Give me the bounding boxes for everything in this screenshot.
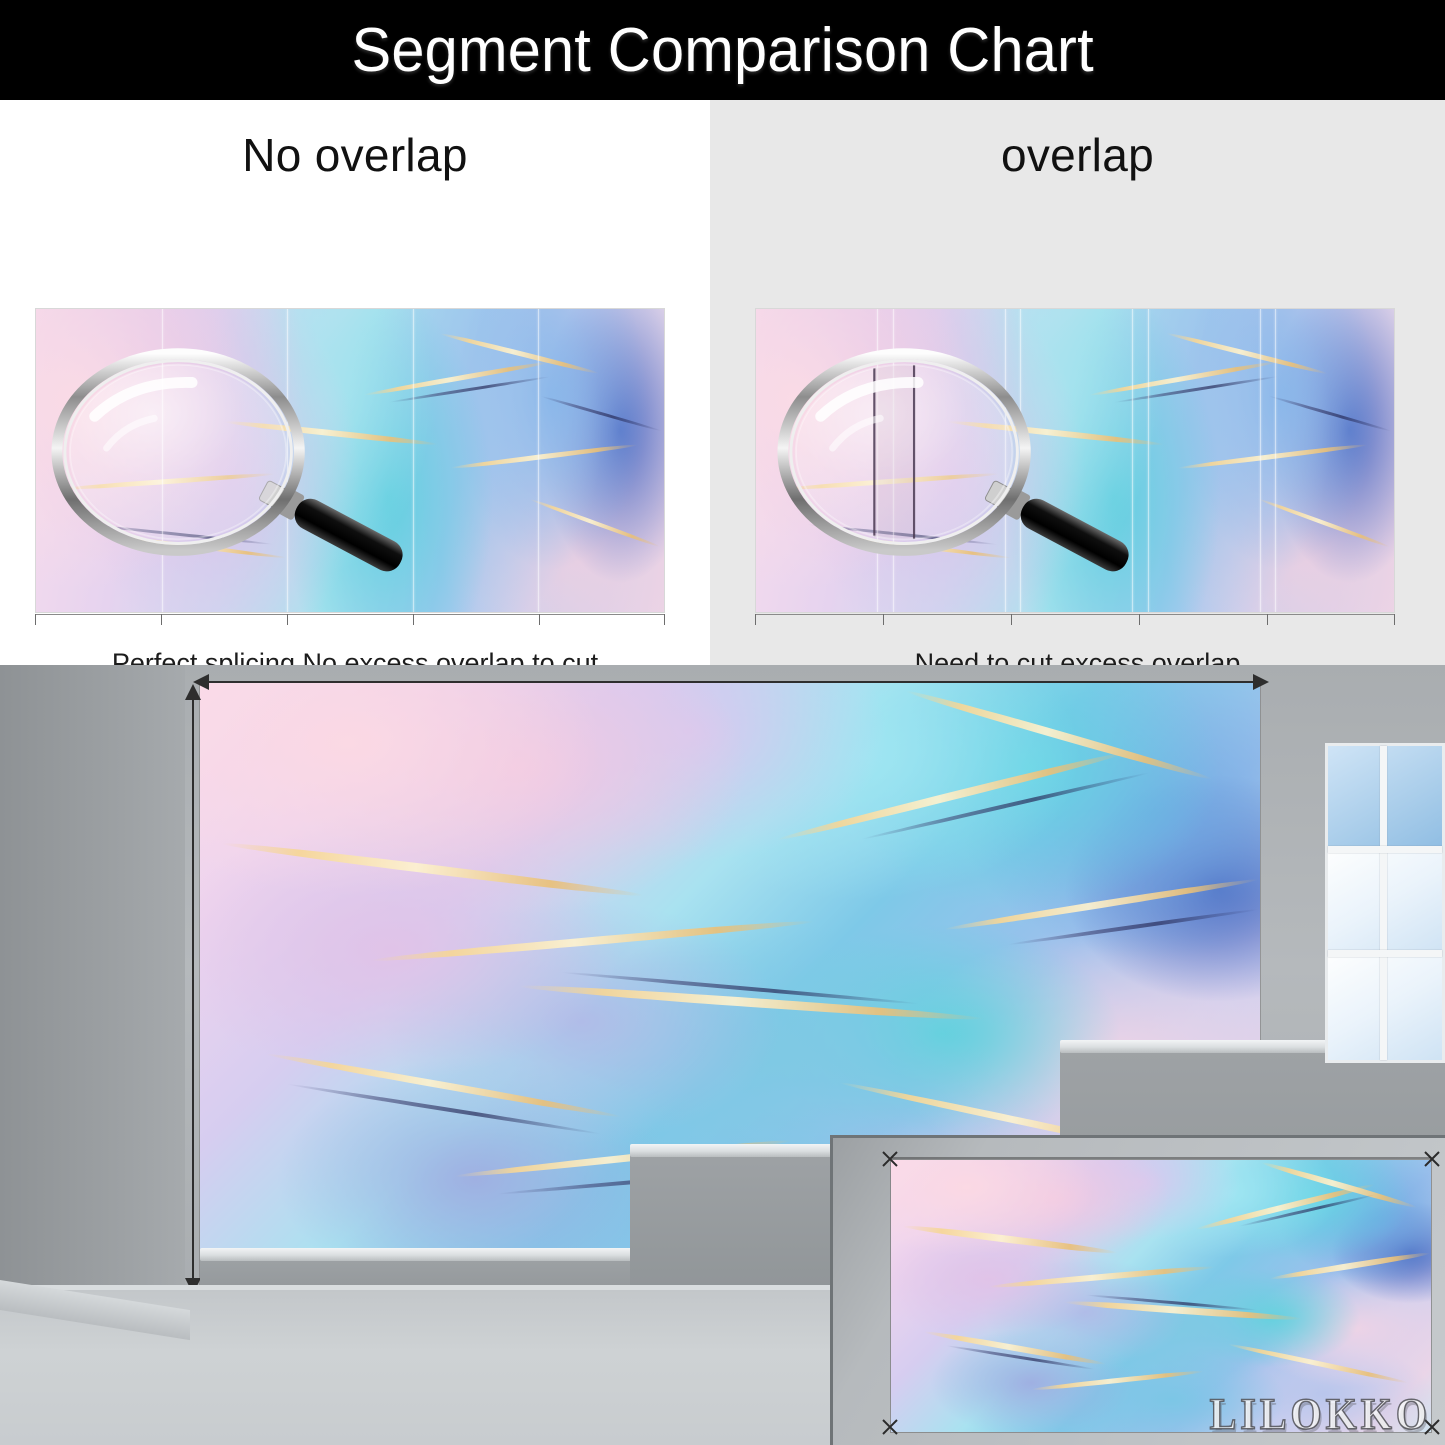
room-scene: LILOKKO xyxy=(0,665,1445,1445)
panel-heading-no-overlap: No overlap xyxy=(0,128,710,182)
brand-watermark: LILOKKO xyxy=(1210,1387,1431,1440)
window-mullion-vertical xyxy=(1380,746,1387,1060)
marble-strip-image-overlap xyxy=(755,308,1395,613)
window-mullion-horizontal xyxy=(1328,846,1442,853)
title-banner: Segment Comparison Chart xyxy=(0,0,1445,100)
panel-no-overlap: No overlap xyxy=(0,100,710,665)
magnified-overlap-seams xyxy=(796,361,1013,544)
mural-closeup-inset: LILOKKO xyxy=(830,1135,1445,1445)
strip-overlap xyxy=(755,308,1395,613)
left-wall xyxy=(0,665,185,1345)
room-window xyxy=(1325,743,1445,1063)
strip-no-overlap xyxy=(35,308,665,613)
marble-strip-image-no-overlap xyxy=(35,308,665,613)
comparison-row: No overlap xyxy=(0,100,1445,665)
segment-ruler-overlap xyxy=(755,614,1395,636)
page-title: Segment Comparison Chart xyxy=(351,15,1093,86)
panel-overlap: overlap xyxy=(710,100,1445,665)
magnifier-icon-no-overlap xyxy=(36,309,664,612)
panel-heading-overlap: overlap xyxy=(710,128,1445,182)
magnifier-icon-overlap xyxy=(756,309,1394,612)
window-mullion-horizontal xyxy=(1328,950,1442,957)
segment-ruler-no-overlap xyxy=(35,614,665,636)
